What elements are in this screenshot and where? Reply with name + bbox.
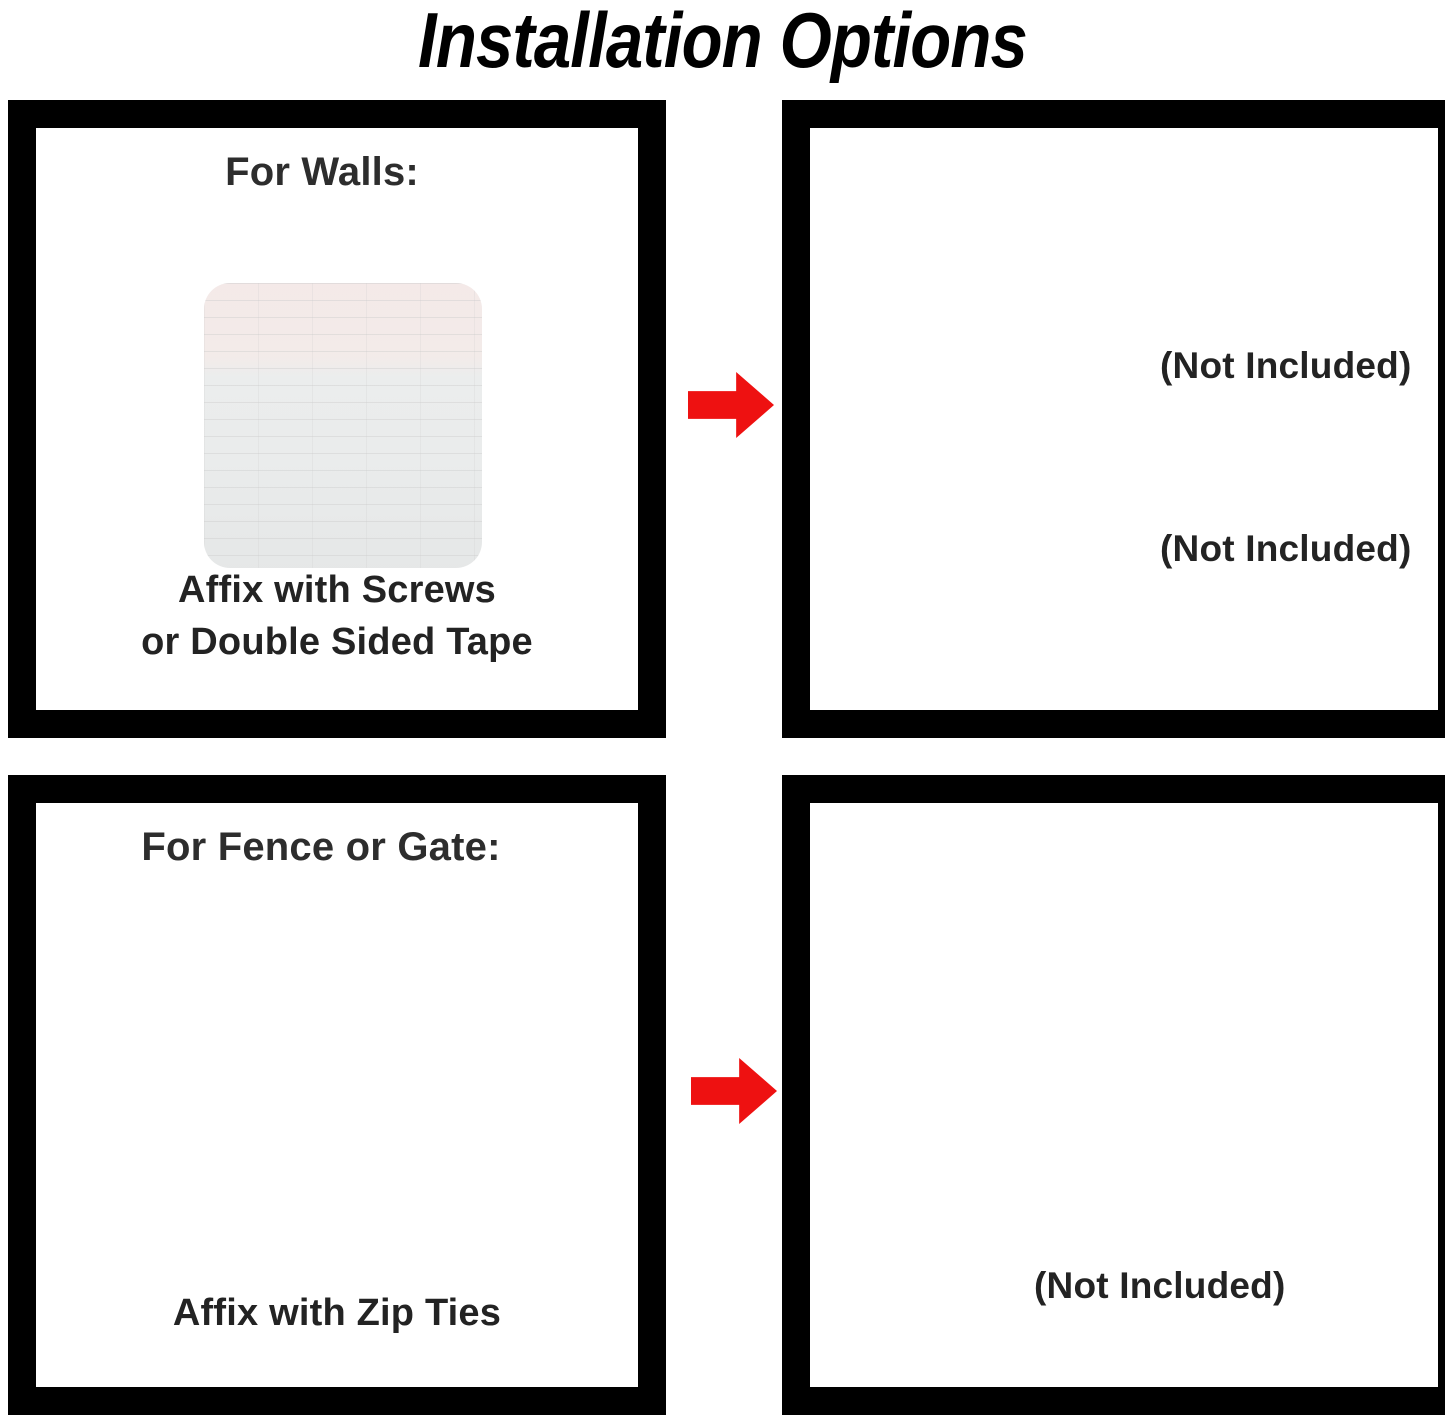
tape-not-included-label: (Not Included) <box>1160 345 1411 387</box>
for-walls-caption-line2: or Double Sided Tape <box>36 616 638 668</box>
panel-for-fence-or-gate: For Fence or Gate: <box>8 775 666 1415</box>
red-right-arrow-icon <box>691 1058 777 1124</box>
screws-not-included-label: (Not Included) <box>1160 528 1411 570</box>
panel-wall-hardware-content: (Not Included) (Not Included) <box>810 128 1438 710</box>
panel-fence-hardware-content: (Not Included) <box>810 803 1438 1387</box>
red-right-arrow-icon <box>688 372 774 438</box>
page-title: Installation Options <box>101 0 1344 86</box>
white-brick-wall-photo <box>204 283 482 568</box>
panel-fence-hardware: (Not Included) <box>782 775 1445 1415</box>
panel-wall-hardware: (Not Included) (Not Included) <box>782 100 1445 738</box>
for-walls-heading: For Walls: <box>36 150 638 195</box>
for-walls-caption: Affix with Screws or Double Sided Tape <box>36 564 638 668</box>
ziptie-not-included-label: (Not Included) <box>1034 1265 1285 1307</box>
for-fence-heading: For Fence or Gate: <box>36 825 638 870</box>
panel-for-walls: For Walls: Affix with Screws or Double S… <box>8 100 666 738</box>
for-walls-caption-line1: Affix with Screws <box>36 564 638 616</box>
panel-for-walls-content: For Walls: Affix with Screws or Double S… <box>36 128 638 710</box>
panel-for-fence-content: For Fence or Gate: <box>36 803 638 1387</box>
for-fence-caption: Affix with Zip Ties <box>36 1287 638 1339</box>
